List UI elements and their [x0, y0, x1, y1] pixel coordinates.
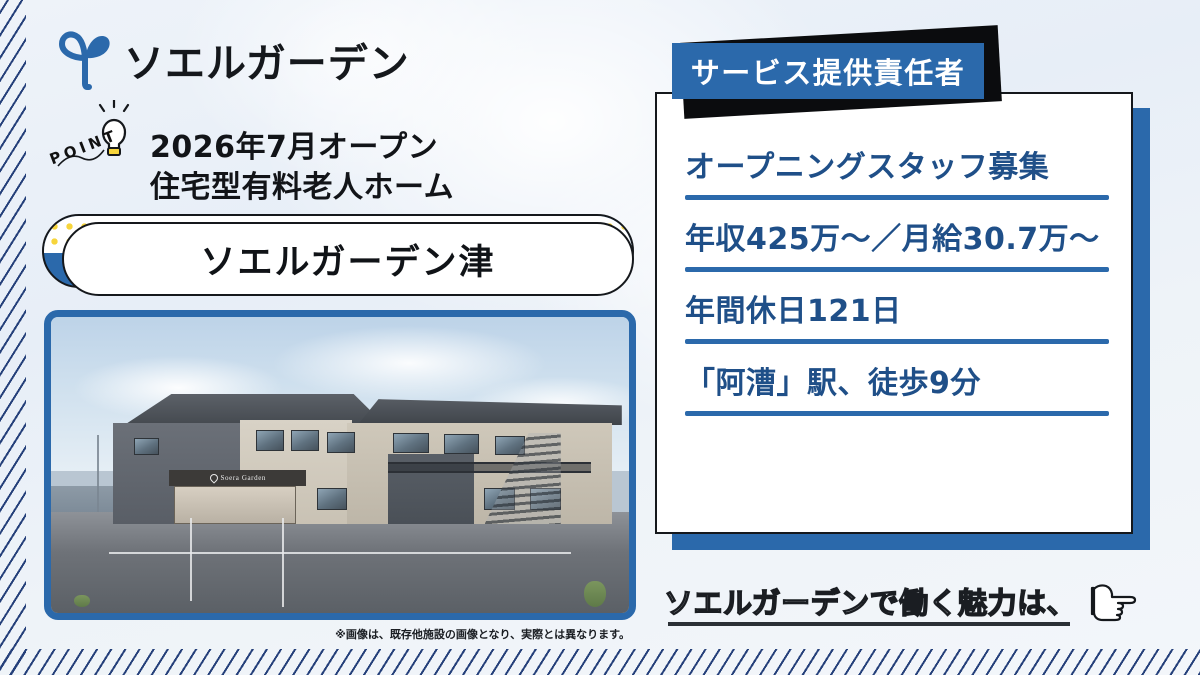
building-window: [256, 430, 284, 451]
job-highlight-rule: [685, 339, 1109, 344]
building-entrance-door: [174, 486, 296, 524]
photo-canvas: Soera Garden: [51, 317, 629, 613]
job-highlight-item: 「阿漕」駅、徒歩9分: [685, 366, 1109, 416]
photo-parking-stripe: [190, 518, 192, 601]
photo-utility-pole: [97, 435, 99, 512]
job-highlight-rule: [685, 411, 1109, 416]
poster-root: ソエルガーデン POINT 2026年7月オープン 住宅型有料老人ホーム ソエル…: [0, 0, 1200, 675]
photo-parking-stripe: [109, 552, 571, 554]
job-title-badge: サービス提供責任者: [672, 30, 1012, 122]
job-highlight-text: 年間休日121日: [685, 294, 1109, 330]
photo-parking-stripe: [282, 518, 284, 607]
entrance-sign-text: Soera Garden: [221, 474, 267, 482]
job-highlights-list: オープニングスタッフ募集 年収425万～／月給30.7万～ 年間休日121日 「…: [685, 150, 1109, 438]
hatch-border-bottom: [0, 649, 1200, 675]
job-title-text: サービス提供責任者: [691, 50, 966, 92]
headline-line-1: 2026年7月オープン: [150, 128, 454, 168]
job-highlight-text: 「阿漕」駅、徒歩9分: [685, 366, 1109, 402]
building-window: [291, 430, 319, 451]
job-highlight-item: 年収425万～／月給30.7万～: [685, 222, 1109, 272]
building-window: [393, 433, 429, 453]
page-headline: 2026年7月オープン 住宅型有料老人ホーム: [150, 128, 454, 208]
job-highlights-card: オープニングスタッフ募集 年収425万～／月給30.7万～ 年間休日121日 「…: [655, 92, 1133, 534]
sprout-leaf-icon: [56, 28, 114, 92]
pointing-hand-icon: [1080, 580, 1138, 622]
photo-parking-lot: [51, 512, 629, 613]
building-window: [327, 432, 355, 453]
photo-building: Soera Garden: [103, 394, 612, 524]
building-window: [134, 438, 159, 455]
brand-name: ソエルガーデン: [124, 31, 410, 89]
job-highlight-item: 年間休日121日: [685, 294, 1109, 344]
pill-front-layer: ソエルガーデン津: [62, 222, 634, 296]
job-highlight-rule: [685, 267, 1109, 272]
building-window: [317, 488, 348, 510]
entrance-sign-logo-icon: [208, 472, 219, 483]
job-highlight-text: 年収425万～／月給30.7万～: [685, 222, 1109, 258]
job-highlight-text: オープニングスタッフ募集: [685, 150, 1109, 186]
facility-name: ソエルガーデン津: [201, 234, 496, 285]
building-entrance-sign: Soera Garden: [169, 470, 306, 487]
job-highlight-item: オープニングスタッフ募集: [685, 150, 1109, 200]
facility-name-pill: ソエルガーデン津: [42, 214, 634, 296]
building-roof-right: [357, 399, 621, 425]
job-highlight-rule: [685, 195, 1109, 200]
tagline-text: ソエルガーデンで働く魅力は、: [664, 580, 1076, 622]
photo-shrub: [584, 581, 606, 607]
facility-photo: Soera Garden: [44, 310, 636, 620]
hatch-border-left: [0, 0, 26, 675]
badge-blue-plate: サービス提供責任者: [672, 43, 984, 99]
brand-logo: ソエルガーデン: [56, 28, 410, 92]
tagline-underline: [668, 622, 1070, 626]
building-window: [444, 434, 480, 454]
footer-tagline: ソエルガーデンで働く魅力は、: [664, 580, 1134, 622]
photo-disclaimer: ※画像は、既存他施設の画像となり、実際とは異なります。: [44, 626, 636, 642]
headline-line-2: 住宅型有料老人ホーム: [150, 168, 454, 208]
